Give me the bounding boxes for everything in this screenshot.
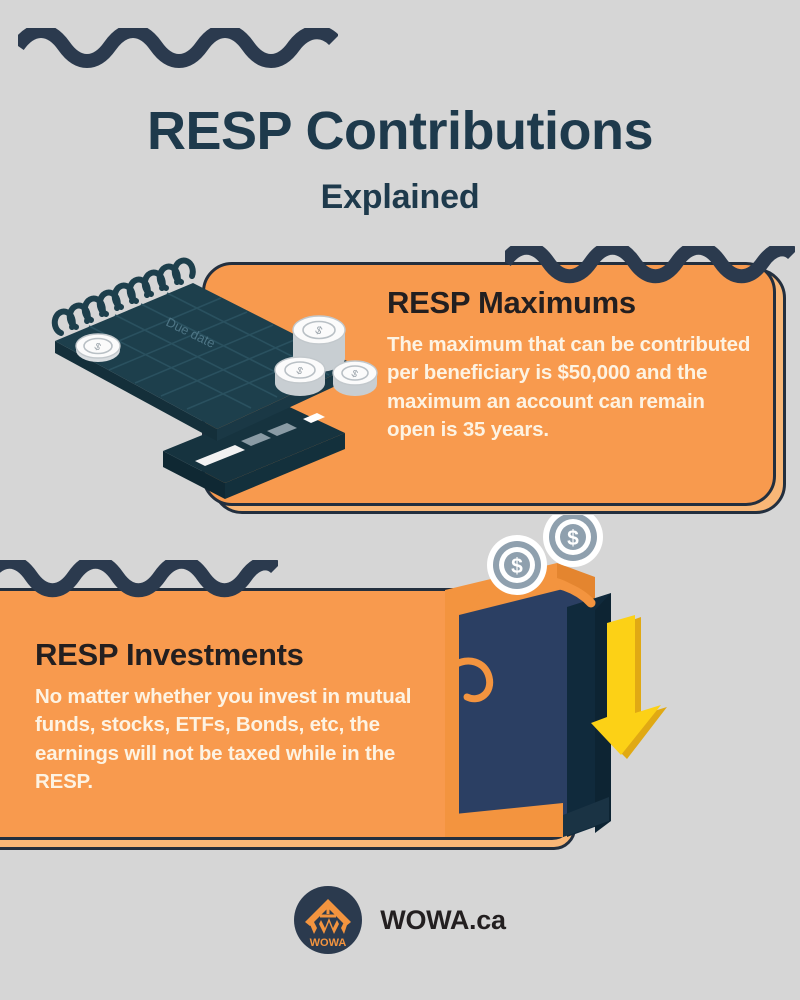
wave-top-icon [18, 28, 338, 84]
coin-stack-left: $ [76, 334, 120, 362]
svg-text:$: $ [511, 555, 523, 578]
brand-name[interactable]: WOWA.ca [380, 905, 505, 936]
coin-left: $ [487, 535, 547, 595]
infographic-canvas: RESP Contributions Explained RESP Maximu… [0, 0, 800, 1000]
wave-card-two-icon [0, 560, 278, 606]
svg-text:$: $ [567, 527, 579, 550]
calendar-coins-illustration: Due date $ $ [45, 255, 385, 520]
page-subtitle: Explained [0, 178, 800, 217]
wowa-logo-icon[interactable]: WOWA [294, 886, 362, 954]
wave-card-one-icon [505, 246, 795, 292]
wallet-shape [445, 563, 611, 837]
card-resp-investments-heading: RESP Investments [35, 637, 304, 673]
wallet-coins-arrow-illustration: $ $ [445, 515, 745, 845]
page-title: RESP Contributions [0, 103, 800, 160]
card-resp-maximums-body: The maximum that can be contributed per … [387, 331, 755, 444]
wowa-logo-wordmark: WOWA [310, 937, 347, 949]
coin-right: $ [543, 515, 603, 567]
footer: WOWA WOWA.ca [0, 875, 800, 965]
card-resp-investments-body: No matter whether you invest in mutual f… [35, 683, 455, 796]
